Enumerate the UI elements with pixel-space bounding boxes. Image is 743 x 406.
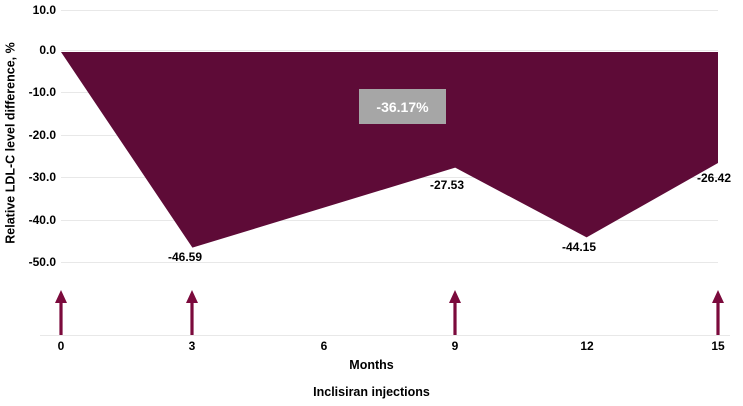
figure-caption: Inclisiran injections bbox=[0, 385, 743, 399]
up-arrow-icon bbox=[445, 290, 465, 336]
y-tick-label: -50.0 bbox=[10, 256, 56, 268]
y-tick-label: -30.0 bbox=[10, 171, 56, 183]
ldl-c-area-chart: Relative LDL-C level difference, % 10.0 … bbox=[0, 0, 743, 406]
y-tick-label: 10.0 bbox=[10, 4, 56, 16]
data-point-label-month-12: -44.15 bbox=[562, 241, 596, 253]
x-axis-line bbox=[40, 335, 730, 336]
y-axis-ticks: 10.0 0.0 -10.0 -20.0 -30.0 -40.0 -50.0 bbox=[0, 0, 56, 406]
y-tick-label: 0.0 bbox=[10, 44, 56, 56]
y-tick-label: -20.0 bbox=[10, 129, 56, 141]
up-arrow-icon bbox=[51, 290, 71, 336]
plot-area bbox=[61, 0, 718, 285]
x-axis-title: Months bbox=[0, 358, 743, 372]
reduction-annotation-label: -36.17% bbox=[376, 99, 428, 115]
x-tick-label: 0 bbox=[58, 340, 65, 352]
y-tick-label: -10.0 bbox=[10, 86, 56, 98]
area-series-shape bbox=[61, 0, 718, 285]
data-point-label-month-9: -27.53 bbox=[430, 179, 464, 191]
x-tick-label: 12 bbox=[580, 340, 593, 352]
x-tick-label: 15 bbox=[711, 340, 724, 352]
data-point-label-month-15: -26.42 bbox=[697, 172, 731, 184]
data-point-label-month-3: -46.59 bbox=[168, 251, 202, 263]
reduction-annotation-badge: -36.17% bbox=[359, 89, 446, 124]
injection-marker-band bbox=[0, 286, 743, 336]
up-arrow-icon bbox=[182, 290, 202, 336]
x-tick-label: 9 bbox=[452, 340, 459, 352]
y-tick-label: -40.0 bbox=[10, 214, 56, 226]
x-tick-label: 3 bbox=[189, 340, 196, 352]
up-arrow-icon bbox=[708, 290, 728, 336]
x-tick-label: 6 bbox=[321, 340, 328, 352]
